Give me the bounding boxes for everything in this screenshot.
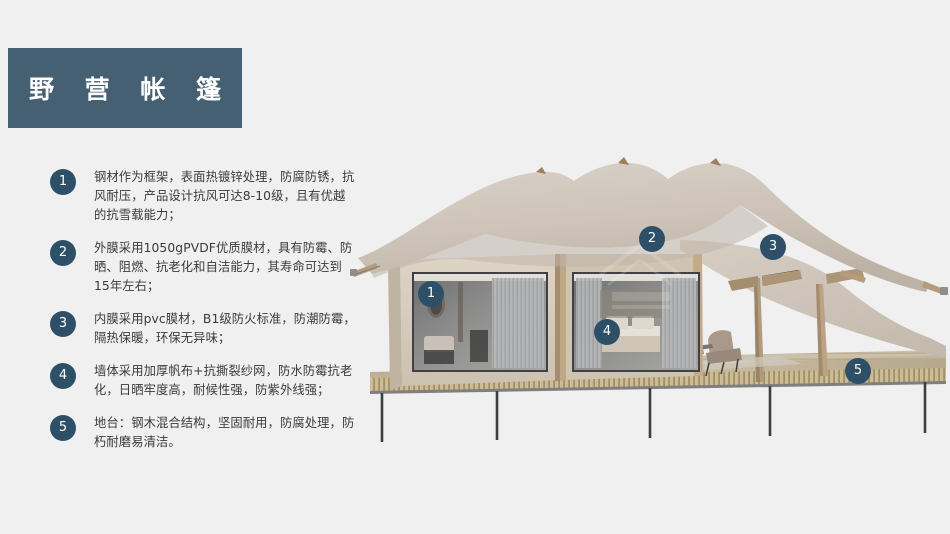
feature-text-2: 外膜采用1050gPVDF优质膜材，具有防霉、防晒、阻燃、抗老化和自洁能力，其寿… [94, 239, 356, 296]
window-right [572, 272, 700, 372]
feature-badge-4: 4 [50, 363, 76, 389]
feature-text-5: 地台：钢木混合结构，坚固耐用，防腐处理，防朽耐磨易清洁。 [94, 414, 356, 452]
feature-list: 1 钢材作为框架，表面热镀锌处理，防腐防锈，抗风耐压，产品设计抗风可达8-10级… [50, 168, 370, 466]
inner-membrane-marker[interactable]: 3 [760, 234, 786, 260]
cabin-left-wall [388, 260, 402, 390]
feature-text-4: 墙体采用加厚帆布+抗撕裂纱网，防水防霉抗老化，日晒牢度高，耐候性强，防紫外线强； [94, 362, 356, 400]
outer-membrane-marker[interactable]: 2 [639, 226, 665, 252]
feature-badge-3: 3 [50, 311, 76, 337]
feature-badge-2: 2 [50, 240, 76, 266]
feature-badge-5: 5 [50, 415, 76, 441]
list-item: 4 墙体采用加厚帆布+抗撕裂纱网，防水防霉抗老化，日晒牢度高，耐候性强，防紫外线… [50, 362, 370, 400]
deck-platform-marker[interactable]: 5 [845, 358, 871, 384]
page-title: 野 营 帐 篷 [18, 70, 232, 106]
wall-fabric-marker[interactable]: 4 [594, 319, 620, 345]
steel-frame-marker[interactable]: 1 [418, 281, 444, 307]
list-item: 3 内膜采用pvc膜材，B1级防火标准，防潮防霉，隔热保暖，环保无异味； [50, 310, 370, 348]
feature-badge-1: 1 [50, 169, 76, 195]
list-item: 1 钢材作为框架，表面热镀锌处理，防腐防锈，抗风耐压，产品设计抗风可达8-10级… [50, 168, 370, 225]
slide-root: 野 营 帐 篷 1 钢材作为框架，表面热镀锌处理，防腐防锈，抗风耐压，产品设计抗… [0, 0, 950, 534]
title-banner: 野 营 帐 篷 [8, 48, 242, 128]
feature-text-3: 内膜采用pvc膜材，B1级防火标准，防潮防霉，隔热保暖，环保无异味； [94, 310, 356, 348]
list-item: 5 地台：钢木混合结构，坚固耐用，防腐处理，防朽耐磨易清洁。 [50, 414, 370, 452]
list-item: 2 外膜采用1050gPVDF优质膜材，具有防霉、防晒、阻燃、抗老化和自洁能力，… [50, 239, 370, 296]
right-guy-pole [922, 281, 948, 295]
feature-text-1: 钢材作为框架，表面热镀锌处理，防腐防锈，抗风耐压，产品设计抗风可达8-10级，且… [94, 168, 356, 225]
